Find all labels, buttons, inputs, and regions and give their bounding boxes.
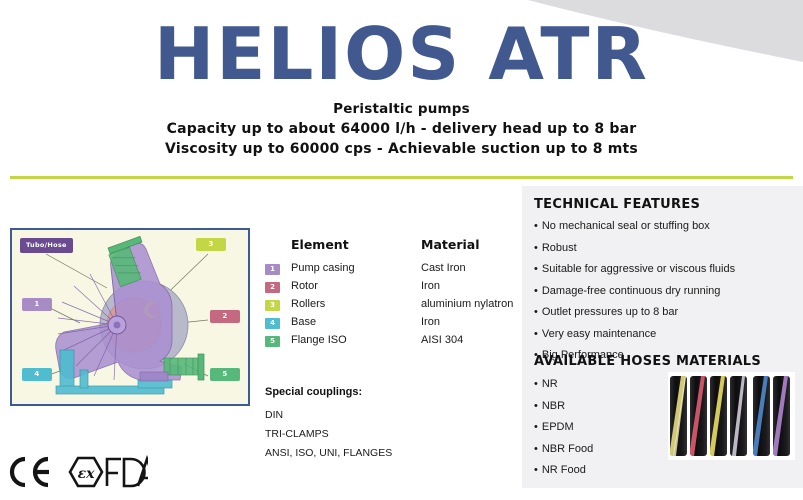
feature-item: •Robust xyxy=(534,238,735,260)
svg-text:εx: εx xyxy=(78,466,96,482)
drawing-callout-5: 5 xyxy=(210,368,240,381)
feature-item: •Suitable for aggressive or viscous flui… xyxy=(534,259,735,281)
swatch-4: 4 xyxy=(265,318,280,329)
spacer-header xyxy=(265,237,287,259)
spec-table-grid: Element Material 1 Pump casing Cast Iron… xyxy=(265,237,513,349)
hose-material-label: NR Food xyxy=(542,464,586,476)
drawing-callout-3: 3 xyxy=(196,238,226,251)
bullet-icon: • xyxy=(534,285,538,297)
subtitle-line-1: Peristaltic pumps xyxy=(0,100,803,119)
hose-material-item: •NR xyxy=(534,374,593,396)
coupling-item: ANSI, ISO, UNI, FLANGES xyxy=(265,444,515,463)
row-element: Flange ISO xyxy=(287,331,421,349)
coupling-item: TRI-CLAMPS xyxy=(265,425,515,444)
row-element: Rollers xyxy=(287,295,421,313)
fda-mark-icon xyxy=(107,459,148,486)
row-element: Pump casing xyxy=(287,259,421,277)
swatch-2: 2 xyxy=(265,282,280,293)
bullet-icon: • xyxy=(534,306,538,318)
bullet-icon: • xyxy=(534,378,538,390)
hose-material-item: •NR Food xyxy=(534,460,593,482)
product-datasheet-page: HELIOS ATR Peristaltic pumps Capacity up… xyxy=(0,0,803,500)
technical-features-heading: TECHNICAL FEATURES xyxy=(534,197,700,212)
drawing-callout-2: 2 xyxy=(210,310,240,323)
bullet-icon: • xyxy=(534,328,538,340)
feature-item: •Outlet pressures up to 8 bar xyxy=(534,302,735,324)
bullet-icon: • xyxy=(534,464,538,476)
hose-material-label: EPDM xyxy=(542,421,574,433)
technical-features-list: •No mechanical seal or stuffing box •Rob… xyxy=(534,216,735,367)
table-row: 1 Pump casing Cast Iron xyxy=(265,259,513,277)
special-couplings-section: Special couplings: DIN TRI-CLAMPS ANSI, … xyxy=(265,386,515,463)
coupling-item: DIN xyxy=(265,406,515,425)
page-title: HELIOS ATR xyxy=(0,16,803,92)
bullet-icon: • xyxy=(534,443,538,455)
bullet-icon: • xyxy=(534,400,538,412)
header: HELIOS ATR Peristaltic pumps Capacity up… xyxy=(0,0,803,162)
swatch-5: 5 xyxy=(265,336,280,347)
hose-material-label: NBR Food xyxy=(542,443,593,455)
hose-material-label: NR xyxy=(542,378,558,390)
drawing-callout-4: 4 xyxy=(22,368,52,381)
header-divider-rule xyxy=(10,176,793,179)
row-material: aluminium nylatron xyxy=(421,295,513,313)
atex-mark-icon: εx xyxy=(70,458,102,486)
subtitle-block: Peristaltic pumps Capacity up to about 6… xyxy=(0,100,803,159)
pump-technical-drawing: Tubo/Hose 1 2 3 4 5 xyxy=(10,228,250,406)
feature-label: Very easy maintenance xyxy=(542,328,656,340)
row-material: Cast Iron xyxy=(421,259,513,277)
row-swatch-cell: 5 xyxy=(265,331,287,349)
subtitle-line-3: Viscosity up to 60000 cps - Achievable s… xyxy=(0,139,803,159)
hose-samples-photo xyxy=(668,372,795,460)
table-row: 5 Flange ISO AISI 304 xyxy=(265,331,513,349)
bullet-icon: • xyxy=(534,421,538,433)
hoses-materials-heading: AVAILABLE HOSES MATERIALS xyxy=(534,354,761,369)
feature-label: Outlet pressures up to 8 bar xyxy=(542,306,678,318)
features-panel: TECHNICAL FEATURES •No mechanical seal o… xyxy=(522,186,803,488)
bullet-icon: • xyxy=(534,263,538,275)
row-material: Iron xyxy=(421,313,513,331)
bullet-icon: • xyxy=(534,220,538,232)
hose-material-item: •NBR Food xyxy=(534,439,593,461)
feature-item: •No mechanical seal or stuffing box xyxy=(534,216,735,238)
hose-material-item: •NBR xyxy=(534,396,593,418)
row-element: Base xyxy=(287,313,421,331)
feature-label: No mechanical seal or stuffing box xyxy=(542,220,710,232)
couplings-title: Special couplings: xyxy=(265,386,515,398)
element-column-header: Element xyxy=(287,237,421,259)
hoses-materials-list: •NR •NBR •EPDM •NBR Food •NR Food xyxy=(534,374,593,482)
feature-label: Damage-free continuous dry running xyxy=(542,285,721,297)
material-column-header: Material xyxy=(421,237,513,259)
swatch-1: 1 xyxy=(265,264,280,275)
row-material: Iron xyxy=(421,277,513,295)
subtitle-line-2: Capacity up to about 64000 l/h - deliver… xyxy=(0,119,803,139)
feature-item: •Very easy maintenance xyxy=(534,324,735,346)
table-row: 2 Rotor Iron xyxy=(265,277,513,295)
hose-material-label: NBR xyxy=(542,400,565,412)
swatch-3: 3 xyxy=(265,300,280,311)
drawing-callout-1: 1 xyxy=(22,298,52,311)
row-swatch-cell: 4 xyxy=(265,313,287,331)
hose-material-item: •EPDM xyxy=(534,417,593,439)
bullet-icon: • xyxy=(534,242,538,254)
element-material-table: Element Material 1 Pump casing Cast Iron… xyxy=(265,237,515,349)
row-swatch-cell: 1 xyxy=(265,259,287,277)
table-row: 4 Base Iron xyxy=(265,313,513,331)
row-swatch-cell: 2 xyxy=(265,277,287,295)
row-material: AISI 304 xyxy=(421,331,513,349)
feature-item: •Damage-free continuous dry running xyxy=(534,281,735,303)
certification-logos: εx xyxy=(8,452,148,492)
row-element: Rotor xyxy=(287,277,421,295)
row-swatch-cell: 3 xyxy=(265,295,287,313)
feature-label: Robust xyxy=(542,242,577,254)
feature-label: Suitable for aggressive or viscous fluid… xyxy=(542,263,735,275)
drawing-tag-hose: Tubo/Hose xyxy=(20,238,73,253)
table-header-row: Element Material xyxy=(265,237,513,259)
table-row: 3 Rollers aluminium nylatron xyxy=(265,295,513,313)
